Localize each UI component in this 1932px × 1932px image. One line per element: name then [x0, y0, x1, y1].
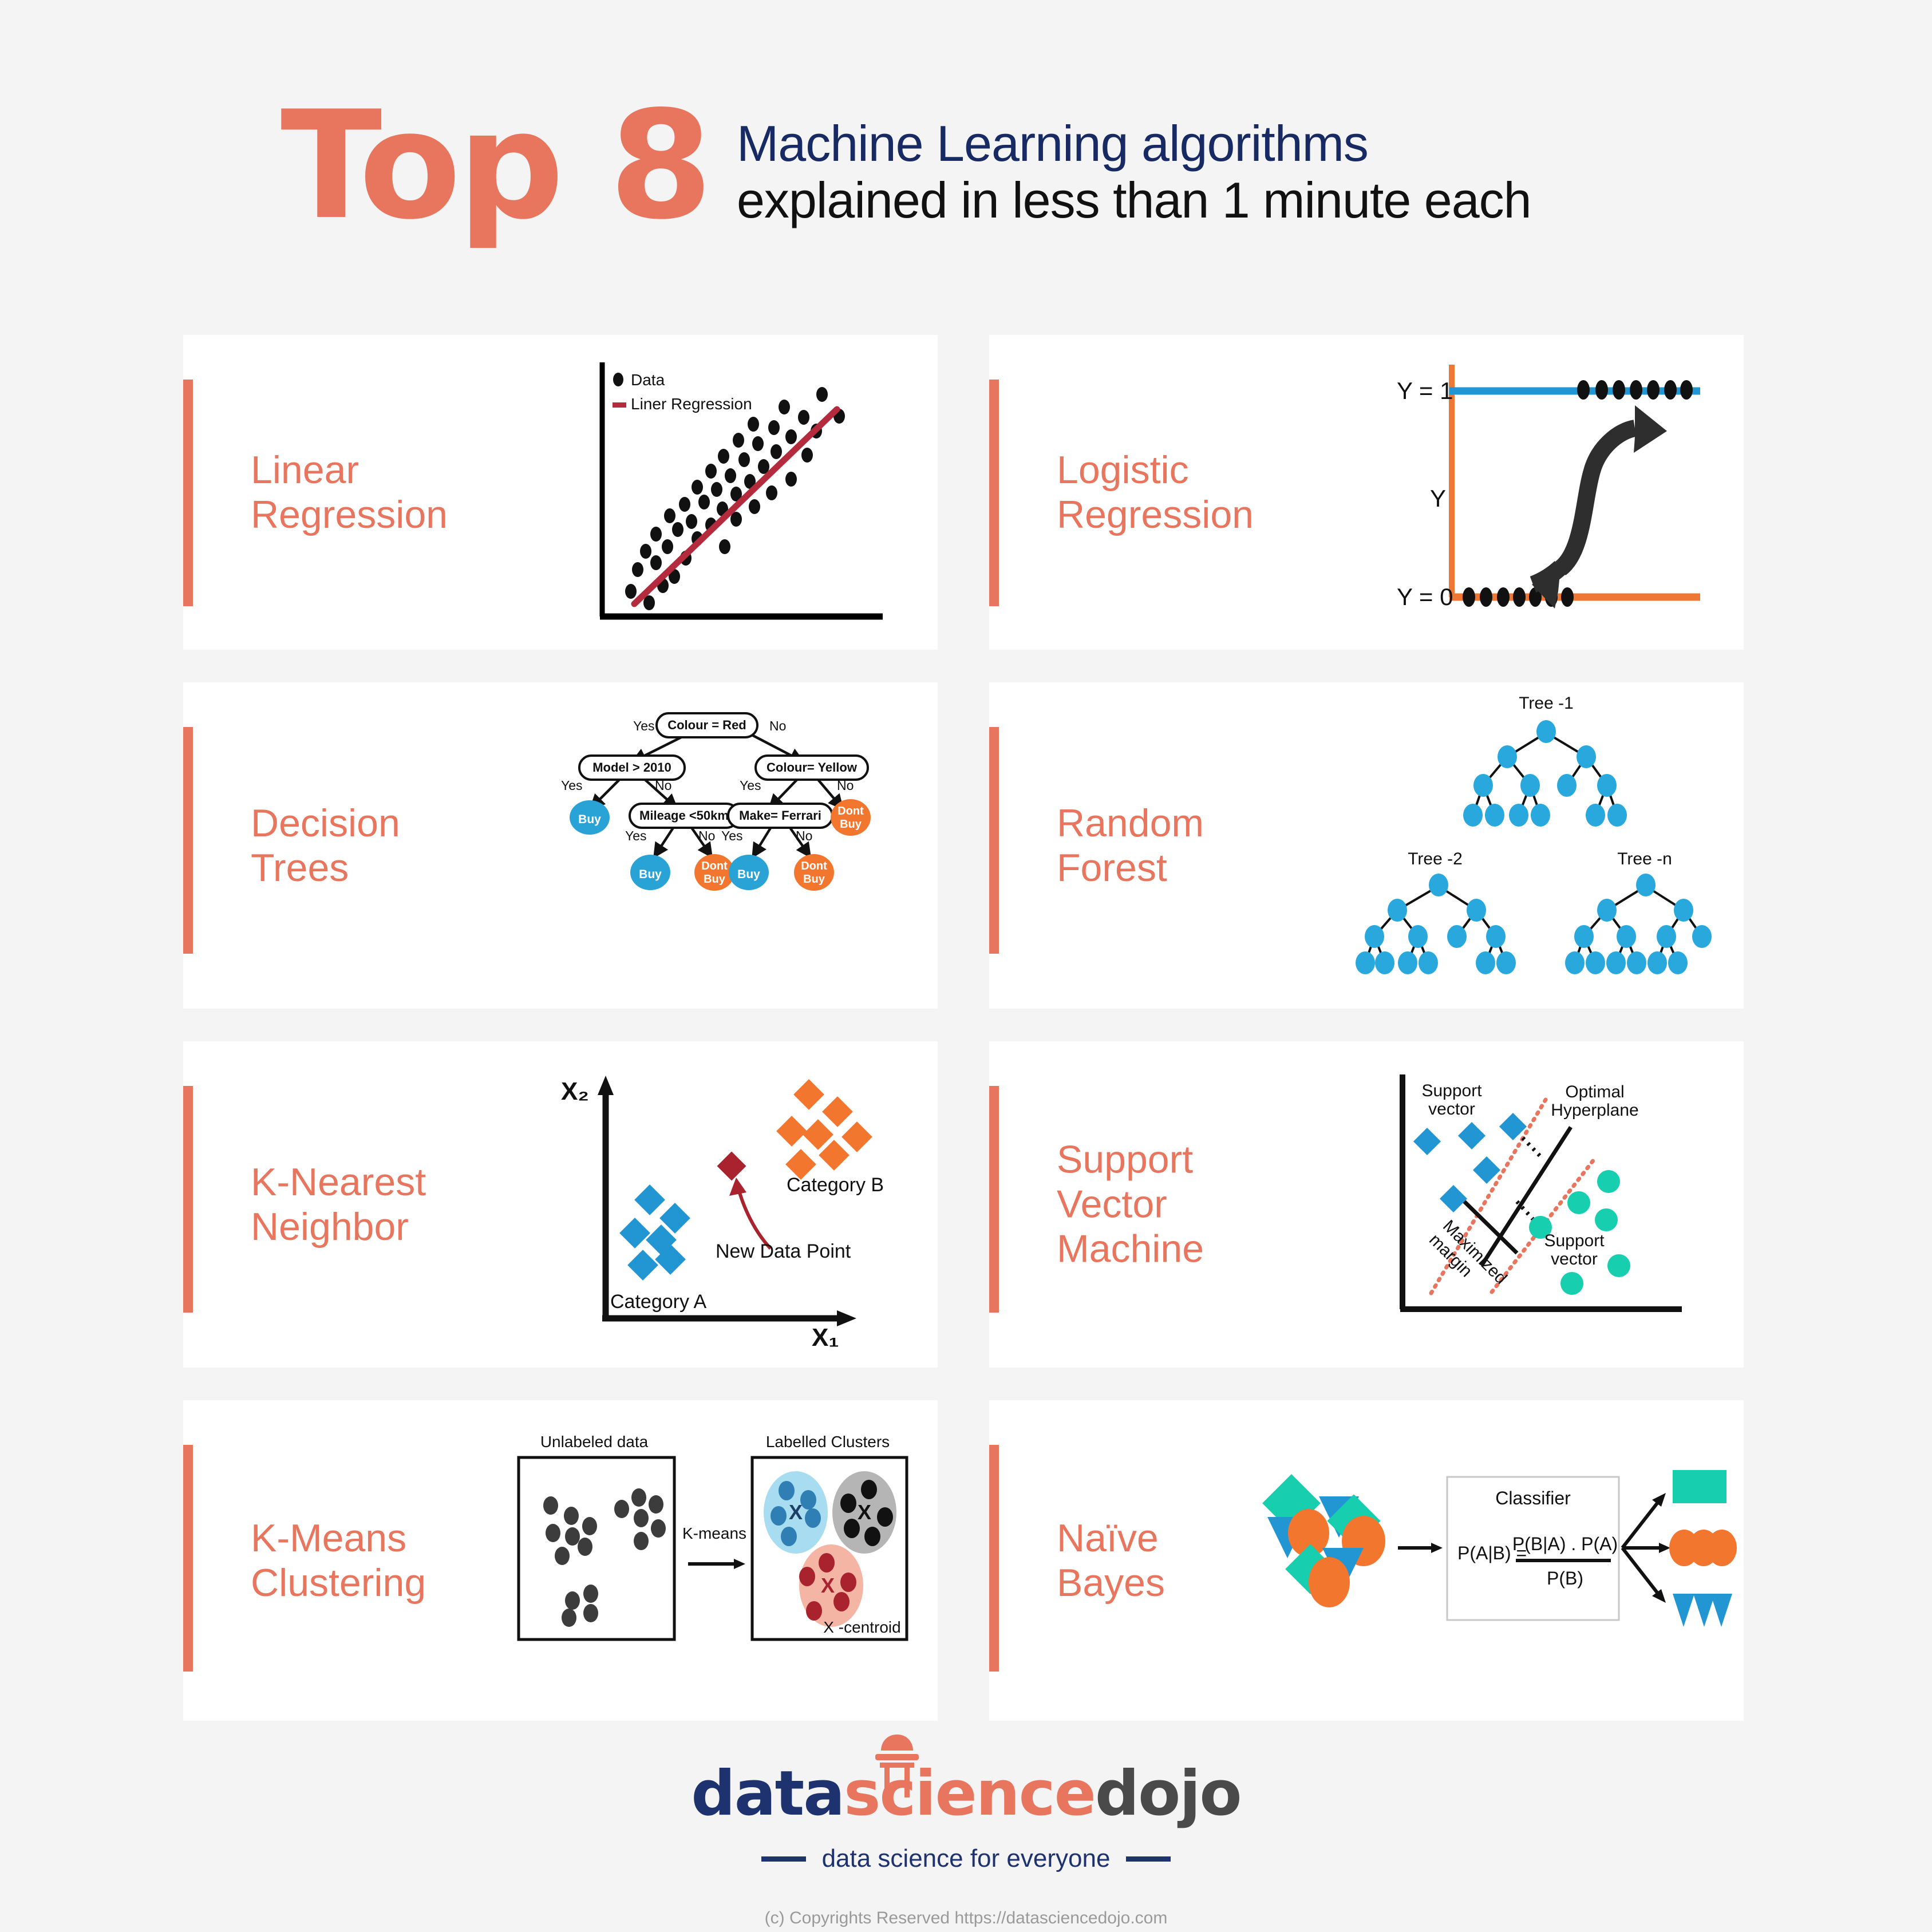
annotation-support-vector-bottom: Support: [1544, 1231, 1605, 1250]
logo-part-data: data: [691, 1758, 844, 1830]
panel-title-unlabeled: Unlabeled data: [540, 1433, 649, 1451]
tree-leaf-buy-1: Buy: [570, 800, 610, 835]
knn-scatter-chart: X₂ X₁: [543, 1054, 903, 1369]
legend-label-fit: Liner Regression: [631, 395, 752, 413]
svg-text:Dont: Dont: [837, 805, 864, 817]
svg-text:Mileage <50km: Mileage <50km: [639, 808, 729, 823]
svg-text:Dont: Dont: [701, 860, 728, 872]
classifier-box-title: Classifier: [1495, 1488, 1571, 1508]
tree-leaf-dontbuy-1: Dont Buy: [831, 799, 871, 836]
svg-text:vector: vector: [1428, 1100, 1475, 1119]
logistic-regression-chart: Y = 1 Y Y = 0: [1389, 357, 1721, 671]
card-title: LinearRegression: [251, 448, 448, 537]
svg-text:vector: vector: [1551, 1250, 1598, 1269]
accent-bar: [989, 1086, 999, 1313]
annotation-new-data-point: New Data Point: [716, 1240, 851, 1262]
edge-label: No: [698, 828, 715, 843]
accent-bar: [989, 380, 999, 606]
header-subtitle-line2: explained in less than 1 minute each: [737, 172, 1531, 229]
brand-tagline: data science for everyone: [822, 1844, 1111, 1873]
label-y-equals-1: Y = 1: [1397, 377, 1453, 404]
svg-text:Buy: Buy: [704, 873, 726, 886]
card-title: NaïveBayes: [1057, 1516, 1165, 1605]
card-title: K-NearestNeighbor: [251, 1160, 426, 1249]
logo-part-dojo: dojo: [1095, 1758, 1241, 1830]
edge-label: Yes: [740, 778, 761, 793]
tree-node-model-year: Model > 2010: [579, 756, 685, 780]
card-linear-regression[interactable]: LinearRegression Data Liner Regression: [183, 335, 938, 650]
centroid-marker-blue: X: [789, 1500, 803, 1524]
infographic-page: Top 8 Machine Learning algorithms explai…: [0, 0, 1932, 1932]
tree-node-colour-yellow: Colour= Yellow: [756, 756, 868, 780]
card-title: RandomForest: [1057, 801, 1204, 890]
annotation-category-b: Category B: [787, 1174, 884, 1196]
header-subtitle-line1: Machine Learning algorithms: [737, 116, 1531, 172]
accent-bar: [989, 727, 999, 954]
panel-title-labelled: Labelled Clusters: [766, 1433, 890, 1451]
annotation-optimal-hyperplane: Optimal: [1565, 1082, 1624, 1101]
edge-label: No: [796, 828, 812, 843]
decision-tree-diagram: Colour = Red Model > 2010 Colour= Yellow: [531, 703, 909, 1018]
naive-bayes-diagram: Classifier P(A|B) = P(B|A) . P(A) P(B): [1251, 1457, 1726, 1772]
card-title: DecisionTrees: [251, 801, 400, 890]
card-naive-bayes[interactable]: NaïveBayes: [989, 1400, 1744, 1721]
axis-label-x1: X₁: [812, 1323, 839, 1352]
svg-text:Colour = Red: Colour = Red: [667, 718, 746, 732]
tree-node-mileage: Mileage <50km: [630, 804, 738, 828]
accent-bar: [183, 727, 193, 954]
tree-label-n: Tree -n: [1617, 850, 1672, 868]
card-title: LogisticRegression: [1057, 448, 1254, 537]
svg-text:Hyperplane: Hyperplane: [1551, 1101, 1638, 1120]
tree-leaf-buy-2: Buy: [630, 855, 670, 890]
label-y-axis: Y: [1430, 485, 1446, 512]
logo-part-ience: ience: [915, 1758, 1095, 1830]
legend-label-data: Data: [631, 371, 665, 389]
edge-label: No: [655, 778, 671, 793]
sigmoid-arrow-icon: [1532, 405, 1667, 609]
card-logistic-regression[interactable]: LogisticRegression Y = 1 Y Y = 0: [989, 335, 1744, 650]
brand-tagline-row: data science for everyone: [0, 1844, 1932, 1873]
tree-node-make: Make= Ferrari: [728, 804, 832, 828]
edge-label: Yes: [561, 778, 583, 793]
accent-bar: [183, 1445, 193, 1672]
tagline-dash-right: [1126, 1856, 1171, 1862]
accent-bar: [183, 1086, 193, 1313]
annotation-category-a: Category A: [610, 1291, 707, 1313]
torii-gate-icon: [870, 1733, 924, 1797]
copyright-text: (c) Copyrights Reserved https://datascie…: [0, 1909, 1932, 1928]
edge-label: Yes: [721, 828, 743, 843]
label-y-equals-0: Y = 0: [1397, 583, 1453, 610]
card-k-means-clustering[interactable]: K-MeansClustering Unlabeled data: [183, 1400, 938, 1721]
centroid-marker-red: X: [821, 1574, 835, 1597]
random-forest-diagram: Tree -1 Tree -2 Tree -n: [1317, 694, 1718, 1009]
card-decision-trees[interactable]: DecisionTrees: [183, 682, 938, 1009]
card-support-vector-machine[interactable]: SupportVectorMachine: [989, 1041, 1744, 1368]
linear-regression-chart: Data Liner Regression: [583, 358, 892, 673]
card-k-nearest-neighbor[interactable]: K-NearestNeighbor X₂ X₁: [183, 1041, 938, 1368]
tree-node-root: Colour = Red: [657, 713, 757, 737]
tree-label-1: Tree -1: [1519, 694, 1574, 713]
page-title-top8: Top 8: [280, 92, 709, 240]
edge-label: No: [769, 718, 786, 733]
kmeans-arrow-label: K-means: [682, 1524, 746, 1542]
svm-chart: Support vector Optimal Hyperplane Suppor…: [1390, 1064, 1693, 1379]
edge-label: No: [837, 778, 854, 793]
svg-text:Buy: Buy: [737, 868, 760, 881]
svg-text:Dont: Dont: [801, 860, 827, 872]
page-footer: datasciencedojo data science for everyon…: [0, 1763, 1932, 1928]
svg-text:Colour= Yellow: Colour= Yellow: [767, 760, 858, 775]
tagline-dash-left: [761, 1856, 806, 1862]
annotation-support-vector-top: Support: [1421, 1081, 1482, 1100]
axis-label-x2: X₂: [561, 1077, 589, 1105]
edge-label: Yes: [633, 718, 655, 733]
tree-leaf-dontbuy-3: Dont Buy: [794, 854, 834, 891]
tree-leaf-dontbuy-2: Dont Buy: [694, 854, 734, 891]
tree-leaf-buy-3: Buy: [729, 855, 769, 890]
centroid-marker-gray: X: [858, 1500, 871, 1524]
svg-text:Model > 2010: Model > 2010: [592, 760, 671, 775]
card-title: SupportVectorMachine: [1057, 1137, 1204, 1272]
accent-bar: [989, 1445, 999, 1672]
svg-text:Buy: Buy: [639, 868, 662, 881]
svg-text:Buy: Buy: [803, 873, 825, 886]
formula-numerator: P(B|A) . P(A): [1512, 1534, 1618, 1554]
card-random-forest[interactable]: RandomForest: [989, 682, 1744, 1009]
svg-text:Buy: Buy: [578, 813, 601, 826]
accent-bar: [183, 380, 193, 606]
centroid-legend: X -centroid: [823, 1618, 900, 1636]
svg-text:Buy: Buy: [840, 818, 862, 831]
brand-logo: datasciencedojo: [0, 1763, 1932, 1825]
formula-denominator: P(B): [1547, 1568, 1583, 1589]
algorithm-card-grid: LinearRegression Data Liner Regression: [183, 335, 1749, 1753]
edge-label: Yes: [625, 828, 647, 843]
tree-label-2: Tree -2: [1408, 850, 1463, 868]
page-header: Top 8 Machine Learning algorithms explai…: [0, 86, 1932, 280]
new-data-point-marker: [717, 1152, 746, 1181]
svg-text:Make= Ferrari: Make= Ferrari: [739, 808, 821, 823]
kmeans-diagram: Unlabeled data K-means: [509, 1432, 910, 1747]
card-title: K-MeansClustering: [251, 1516, 426, 1605]
